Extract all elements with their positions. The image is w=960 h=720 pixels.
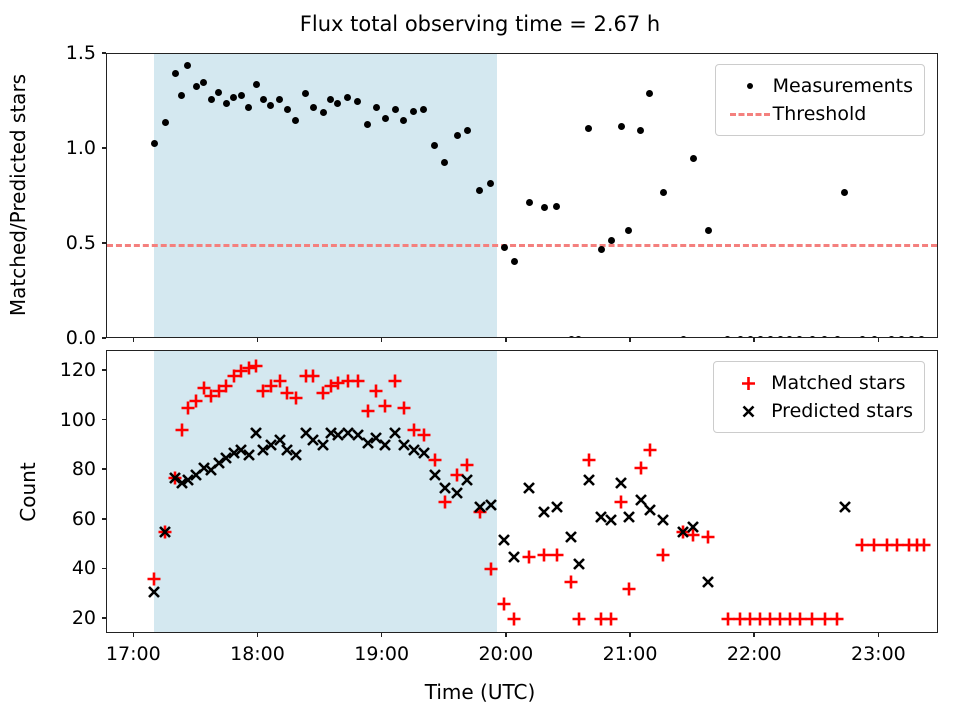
x-tick-label: 23:00 <box>851 643 906 665</box>
data-point <box>146 584 162 600</box>
dot-icon <box>727 83 773 89</box>
ratio-panel: Measurements Threshold <box>106 53 938 338</box>
y-tick-mark <box>102 369 106 371</box>
data-point <box>809 336 816 339</box>
x-tick-mark <box>257 633 259 637</box>
data-point <box>310 104 317 111</box>
data-point <box>521 480 537 496</box>
data-point <box>157 524 173 540</box>
data-point <box>796 336 803 339</box>
data-point <box>705 227 712 234</box>
data-point <box>511 258 518 265</box>
y-tick-label: 0.5 <box>48 232 96 254</box>
data-point <box>238 92 245 99</box>
x-tick-mark <box>753 633 755 637</box>
data-point <box>690 155 697 162</box>
data-point <box>501 244 508 251</box>
data-point <box>680 336 687 339</box>
data-point <box>377 398 393 414</box>
data-point <box>459 472 475 488</box>
x-tick-mark <box>257 338 259 342</box>
data-point <box>416 445 432 461</box>
data-point <box>841 189 848 196</box>
y-tick-label: 40 <box>48 557 96 579</box>
data-point <box>834 336 841 339</box>
data-point <box>174 422 190 438</box>
data-point <box>382 115 389 122</box>
legend-item-threshold: Threshold <box>727 100 913 128</box>
y-tick-label: 1.0 <box>48 137 96 159</box>
y-tick-label: 120 <box>48 359 96 381</box>
data-point <box>360 403 376 419</box>
y-tick-mark <box>102 147 106 149</box>
x-tick-mark <box>753 338 755 342</box>
y-tick-mark <box>102 518 106 520</box>
y-tick-label: 0.0 <box>48 327 96 349</box>
data-point <box>260 96 267 103</box>
data-point <box>724 336 731 339</box>
y-tick-label: 60 <box>48 508 96 530</box>
y-tick-mark <box>102 617 106 619</box>
shaded-observing-window <box>154 54 497 337</box>
data-point <box>821 336 828 339</box>
y-tick-mark <box>102 419 106 421</box>
data-point <box>646 90 653 97</box>
data-point <box>621 581 637 597</box>
data-point <box>223 100 230 107</box>
data-point <box>387 373 403 389</box>
data-point <box>487 180 494 187</box>
data-point <box>483 561 499 577</box>
legend-item-predicted-stars: Predicted stars <box>725 397 913 425</box>
data-point <box>549 547 565 563</box>
y-tick-mark <box>102 242 106 244</box>
data-point <box>392 106 399 113</box>
data-point <box>288 447 304 463</box>
legend-item-matched-stars: Matched stars <box>725 369 913 397</box>
data-point <box>859 336 866 339</box>
data-point <box>162 119 169 126</box>
legend-label-threshold: Threshold <box>773 103 867 125</box>
data-point <box>700 574 716 590</box>
chart-title: Flux total observing time = 2.67 h <box>0 12 960 36</box>
x-tick-mark <box>133 633 135 637</box>
data-point <box>172 70 179 77</box>
data-point <box>288 390 304 406</box>
data-point <box>248 358 264 374</box>
data-point <box>837 499 853 515</box>
data-point <box>350 373 366 389</box>
count-y-axis-label: Count <box>16 462 40 521</box>
ratio-y-axis-label: Matched/Predicted stars <box>6 74 30 316</box>
x-tick-mark <box>133 338 135 342</box>
data-point <box>483 497 499 513</box>
y-tick-mark <box>102 337 106 339</box>
data-point <box>757 336 764 339</box>
data-point <box>368 383 384 399</box>
data-point <box>685 519 701 535</box>
data-point <box>506 549 522 565</box>
legend-label-matched-stars: Matched stars <box>771 372 905 394</box>
data-point <box>618 123 625 130</box>
data-point <box>541 204 548 211</box>
data-point <box>215 89 222 96</box>
data-point <box>598 246 605 253</box>
data-point <box>737 336 744 339</box>
threshold-line <box>107 244 937 247</box>
data-point <box>700 529 716 545</box>
data-point <box>655 512 671 528</box>
data-point <box>613 475 629 491</box>
data-point <box>568 336 575 339</box>
x-tick-label: 18:00 <box>230 643 285 665</box>
data-point <box>464 127 471 134</box>
data-point <box>777 336 784 339</box>
data-point <box>416 427 432 443</box>
data-point <box>193 83 200 90</box>
data-point <box>603 611 619 627</box>
data-point <box>660 189 667 196</box>
data-point <box>908 336 915 339</box>
x-tick-mark <box>878 633 880 637</box>
data-point <box>571 556 587 572</box>
data-point <box>241 447 257 463</box>
x-tick-mark <box>505 338 507 342</box>
legend-label-predicted-stars: Predicted stars <box>771 400 913 422</box>
data-point <box>918 336 925 339</box>
data-point <box>454 132 461 139</box>
data-point <box>410 108 417 115</box>
data-point <box>898 336 905 339</box>
data-point <box>642 442 658 458</box>
figure: Flux total observing time = 2.67 h Measu… <box>0 0 960 720</box>
data-point <box>633 460 649 476</box>
x-tick-label: 22:00 <box>727 643 782 665</box>
x-axis-label: Time (UTC) <box>0 680 960 704</box>
data-point <box>575 336 582 339</box>
data-point <box>767 336 774 339</box>
data-point <box>373 104 380 111</box>
dashed-line-icon <box>727 113 773 116</box>
data-point <box>305 368 321 384</box>
data-point <box>526 199 533 206</box>
y-tick-mark <box>102 468 106 470</box>
data-point <box>637 127 644 134</box>
data-point <box>655 547 671 563</box>
data-point <box>608 237 615 244</box>
count-panel: Matched stars Predicted stars <box>106 350 938 633</box>
x-tick-mark <box>381 633 383 637</box>
x-tick-label: 17:00 <box>106 643 161 665</box>
y-tick-mark <box>102 52 106 54</box>
y-tick-label: 100 <box>48 409 96 431</box>
legend-label-measurements: Measurements <box>773 75 913 97</box>
data-point <box>563 529 579 545</box>
x-tick-mark <box>381 338 383 342</box>
x-tick-mark <box>629 338 631 342</box>
data-point <box>585 125 592 132</box>
x-icon <box>725 403 771 420</box>
x-tick-mark <box>505 633 507 637</box>
data-point <box>431 142 438 149</box>
plus-icon <box>725 375 771 392</box>
data-point <box>396 400 412 416</box>
data-point <box>786 336 793 339</box>
x-tick-label: 20:00 <box>478 643 533 665</box>
data-point <box>563 574 579 590</box>
ratio-legend: Measurements Threshold <box>715 64 925 136</box>
y-tick-label: 80 <box>48 458 96 480</box>
data-point <box>320 109 327 116</box>
x-tick-mark <box>878 338 880 342</box>
x-tick-mark <box>629 633 631 637</box>
data-point <box>829 611 845 627</box>
data-point <box>521 549 537 565</box>
y-tick-label: 1.5 <box>48 42 96 64</box>
data-point <box>253 81 260 88</box>
data-point <box>420 106 427 113</box>
legend-item-measurements: Measurements <box>727 72 913 100</box>
data-point <box>621 509 637 525</box>
data-point <box>496 596 512 612</box>
x-tick-label: 21:00 <box>603 643 658 665</box>
data-point <box>496 532 512 548</box>
data-point <box>571 611 587 627</box>
y-tick-mark <box>102 568 106 570</box>
data-point <box>916 537 932 553</box>
data-point <box>459 457 475 473</box>
data-point <box>581 472 597 488</box>
data-point <box>625 227 632 234</box>
data-point <box>549 499 565 515</box>
data-point <box>284 106 291 113</box>
data-point <box>613 494 629 510</box>
data-point <box>888 336 895 339</box>
data-point <box>208 96 215 103</box>
data-point <box>506 611 522 627</box>
data-point <box>603 512 619 528</box>
data-point <box>151 140 158 147</box>
data-point <box>581 452 597 468</box>
data-point <box>553 203 560 210</box>
data-point <box>245 104 252 111</box>
x-tick-label: 19:00 <box>354 643 409 665</box>
count-legend: Matched stars Predicted stars <box>713 361 925 433</box>
data-point <box>248 425 264 441</box>
y-tick-label: 20 <box>48 607 96 629</box>
